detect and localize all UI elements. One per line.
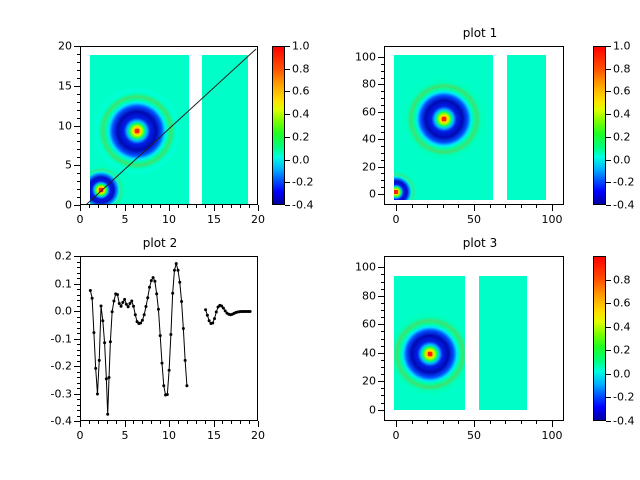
x-tick xyxy=(125,421,126,427)
x-tick-label: 20 xyxy=(251,429,265,442)
y-minor-tick xyxy=(381,339,384,340)
colorbar-tick xyxy=(606,303,611,304)
data-point xyxy=(132,305,135,308)
y-minor-tick xyxy=(381,78,384,79)
x-tick xyxy=(125,205,126,211)
y-tick xyxy=(74,366,80,367)
x-minor-tick xyxy=(458,421,459,424)
data-point xyxy=(116,293,119,296)
x-minor-tick xyxy=(133,205,134,208)
colorbar-tick xyxy=(606,205,611,206)
plot-area-plot2[interactable] xyxy=(80,256,258,421)
data-point xyxy=(146,296,149,299)
y-tick-label: 15 xyxy=(40,80,72,93)
x-minor-tick xyxy=(490,205,491,208)
y-minor-tick xyxy=(77,189,80,190)
data-point xyxy=(211,322,214,325)
x-minor-tick xyxy=(249,421,250,424)
colorbar-tick-label: 0.0 xyxy=(292,154,310,167)
colorbar-tick-label: 1.0 xyxy=(292,40,310,53)
y-minor-tick xyxy=(381,173,384,174)
x-minor-tick xyxy=(427,421,428,424)
line-segment-1 xyxy=(90,264,187,415)
data-point xyxy=(134,313,137,316)
y-minor-tick xyxy=(381,98,384,99)
y-minor-tick xyxy=(381,119,384,120)
colorbar-tick xyxy=(606,114,611,115)
x-tick-label: 20 xyxy=(251,213,265,226)
data-point xyxy=(92,331,95,334)
y-tick-label: 0 xyxy=(40,199,72,212)
x-minor-tick xyxy=(443,421,444,424)
y-minor-tick xyxy=(77,295,80,296)
data-point xyxy=(98,359,101,362)
data-point xyxy=(178,281,181,284)
colorbar-tick xyxy=(606,327,611,328)
y-minor-tick xyxy=(77,306,80,307)
heatmap-patch-right-p3 xyxy=(479,276,527,410)
data-point xyxy=(171,292,174,295)
x-minor-tick xyxy=(160,205,161,208)
y-minor-tick xyxy=(77,361,80,362)
data-point xyxy=(105,377,108,380)
colorbar-tick xyxy=(606,421,611,422)
colorbar-tick-label: 0.2 xyxy=(613,131,631,144)
y-minor-tick xyxy=(77,118,80,119)
x-tick-label: 10 xyxy=(162,429,176,442)
colorbar-tick-label: -0.2 xyxy=(292,176,313,189)
data-point xyxy=(157,308,160,311)
plot-area-plot1[interactable] xyxy=(384,46,564,205)
y-minor-tick xyxy=(77,388,80,389)
x-tick-label: 50 xyxy=(467,429,481,442)
colorbar-tick-label: 0.4 xyxy=(613,321,631,334)
data-point xyxy=(103,341,106,344)
data-point xyxy=(169,333,172,336)
plot-area-plot3[interactable] xyxy=(384,256,564,421)
image-layer-plot3 xyxy=(385,257,563,420)
data-point xyxy=(143,313,146,316)
y-tick xyxy=(378,267,384,268)
x-minor-tick xyxy=(205,205,206,208)
plot-area-top-left[interactable] xyxy=(80,46,258,205)
y-tick xyxy=(378,139,384,140)
y-tick xyxy=(378,84,384,85)
x-minor-tick xyxy=(521,421,522,424)
x-minor-tick xyxy=(116,205,117,208)
y-minor-tick xyxy=(381,71,384,72)
y-minor-tick xyxy=(381,289,384,290)
colorbar-tick-label: 0.6 xyxy=(292,85,310,98)
colorbar-tick xyxy=(285,46,290,47)
data-point xyxy=(121,301,124,304)
x-tick xyxy=(552,421,553,427)
data-point xyxy=(130,300,133,303)
x-tick xyxy=(214,205,215,211)
x-minor-tick xyxy=(160,421,161,424)
colorbar-tick-label: 0.8 xyxy=(613,63,631,76)
y-minor-tick xyxy=(77,377,80,378)
colorbar-tick xyxy=(285,137,290,138)
y-tick-label: 20 xyxy=(344,161,376,174)
y-tick-label: 60 xyxy=(344,106,376,119)
x-tick xyxy=(474,205,475,211)
colorbar-tick-label: -0.2 xyxy=(613,391,634,404)
y-minor-tick xyxy=(77,317,80,318)
y-minor-tick xyxy=(77,410,80,411)
data-point xyxy=(144,305,147,308)
y-tick xyxy=(378,194,384,195)
y-minor-tick xyxy=(77,372,80,373)
data-point xyxy=(208,319,211,322)
data-point xyxy=(125,303,128,306)
x-minor-tick xyxy=(178,205,179,208)
y-minor-tick xyxy=(381,160,384,161)
x-minor-tick xyxy=(142,421,143,424)
x-minor-tick xyxy=(458,205,459,208)
colorbar-tick-label: 1.0 xyxy=(613,40,631,53)
data-point xyxy=(123,298,126,301)
x-minor-tick xyxy=(443,205,444,208)
y-minor-tick xyxy=(381,146,384,147)
colorbar-tick xyxy=(285,205,290,206)
y-tick-label: 0.2 xyxy=(40,250,72,263)
x-minor-tick xyxy=(240,421,241,424)
data-point xyxy=(152,276,155,279)
x-minor-tick xyxy=(98,205,99,208)
x-tick-label: 50 xyxy=(467,213,481,226)
x-minor-tick xyxy=(231,205,232,208)
data-point xyxy=(106,413,109,416)
colorbar-tick xyxy=(606,46,611,47)
y-tick xyxy=(378,112,384,113)
y-tick-label: 0.0 xyxy=(40,305,72,318)
x-tick-label: 10 xyxy=(162,213,176,226)
x-tick xyxy=(552,205,553,211)
y-minor-tick xyxy=(77,181,80,182)
data-point xyxy=(127,305,130,308)
y-minor-tick xyxy=(77,110,80,111)
y-minor-tick xyxy=(381,395,384,396)
y-tick-label: 40 xyxy=(344,347,376,360)
x-minor-tick xyxy=(412,205,413,208)
data-point xyxy=(100,304,103,307)
figure-canvas: plot 1 xyxy=(0,0,640,480)
x-minor-tick xyxy=(536,421,537,424)
y-tick-label: 40 xyxy=(344,133,376,146)
y-tick xyxy=(74,284,80,285)
y-minor-tick xyxy=(77,273,80,274)
colorbar-tick-label: -0.4 xyxy=(292,199,313,212)
colorbar-tick-label: 0.4 xyxy=(613,108,631,121)
x-minor-tick xyxy=(505,421,506,424)
y-minor-tick xyxy=(381,346,384,347)
x-minor-tick xyxy=(412,421,413,424)
data-point xyxy=(139,322,142,325)
x-tick-label: 100 xyxy=(542,429,563,442)
colorbar-tick xyxy=(606,397,611,398)
y-minor-tick xyxy=(77,54,80,55)
y-tick-label: 0.1 xyxy=(40,278,72,291)
y-minor-tick xyxy=(77,278,80,279)
x-minor-tick xyxy=(249,205,250,208)
x-minor-tick xyxy=(490,421,491,424)
data-point xyxy=(111,310,114,313)
sinc-field-left-p1 xyxy=(394,55,493,200)
data-point xyxy=(206,314,209,317)
y-minor-tick xyxy=(77,94,80,95)
y-minor-tick xyxy=(77,383,80,384)
data-point xyxy=(112,300,115,303)
x-tick-label: 0 xyxy=(77,213,84,226)
y-minor-tick xyxy=(381,317,384,318)
y-minor-tick xyxy=(381,153,384,154)
colorbar-tick-label: 0.2 xyxy=(292,131,310,144)
x-minor-tick xyxy=(196,421,197,424)
y-minor-tick xyxy=(381,331,384,332)
y-tick-label: 100 xyxy=(344,51,376,64)
y-minor-tick xyxy=(77,289,80,290)
data-point xyxy=(91,297,94,300)
colorbar-tick xyxy=(285,69,290,70)
colorbar-tick xyxy=(606,137,611,138)
y-minor-tick xyxy=(77,62,80,63)
sinc-field-left-p3 xyxy=(394,276,465,410)
y-tick xyxy=(74,421,80,422)
heatmap-patch-left-p1 xyxy=(394,55,493,200)
y-minor-tick xyxy=(381,187,384,188)
y-minor-tick xyxy=(381,403,384,404)
colorbar-plot3 xyxy=(593,256,606,421)
y-minor-tick xyxy=(381,64,384,65)
colorbar-top-left xyxy=(272,46,285,205)
panel-bottom-left-title: plot 2 xyxy=(0,236,320,250)
panel-bottom-right: plot 3 xyxy=(320,240,640,480)
data-point xyxy=(215,311,218,314)
y-minor-tick xyxy=(381,274,384,275)
data-point xyxy=(213,317,216,320)
colorbar-tick xyxy=(606,160,611,161)
data-point xyxy=(94,367,97,370)
y-minor-tick xyxy=(77,149,80,150)
data-point xyxy=(148,286,151,289)
y-minor-tick xyxy=(77,70,80,71)
y-minor-tick xyxy=(381,360,384,361)
y-minor-tick xyxy=(381,303,384,304)
colorbar-tick-label: -0.2 xyxy=(613,176,634,189)
y-minor-tick xyxy=(77,355,80,356)
panel-top-right: plot 1 xyxy=(320,0,640,240)
y-minor-tick xyxy=(381,126,384,127)
x-minor-tick xyxy=(231,421,232,424)
colorbar-tick-label: -0.4 xyxy=(613,415,634,428)
x-tick-label: 0 xyxy=(77,429,84,442)
colorbar-tick xyxy=(606,374,611,375)
data-point xyxy=(182,327,185,330)
x-minor-tick xyxy=(505,205,506,208)
data-point xyxy=(89,289,92,292)
data-point xyxy=(120,305,123,308)
y-minor-tick xyxy=(77,333,80,334)
x-minor-tick xyxy=(89,421,90,424)
y-minor-tick xyxy=(77,102,80,103)
panel-bottom-right-title: plot 3 xyxy=(320,236,640,250)
data-point xyxy=(155,292,158,295)
y-tick xyxy=(74,46,80,47)
panel-top-right-title: plot 1 xyxy=(320,26,640,40)
y-tick xyxy=(74,394,80,395)
x-minor-tick xyxy=(98,421,99,424)
y-minor-tick xyxy=(77,416,80,417)
colorbar-tick xyxy=(606,280,611,281)
y-minor-tick xyxy=(381,310,384,311)
y-minor-tick xyxy=(381,132,384,133)
colorbar-tick-label: 0.0 xyxy=(613,368,631,381)
x-tick xyxy=(258,205,259,211)
data-point xyxy=(128,302,131,305)
x-tick-label: 5 xyxy=(122,213,129,226)
y-tick xyxy=(74,311,80,312)
y-tick xyxy=(378,324,384,325)
x-tick-label: 15 xyxy=(207,429,221,442)
colorbar-plot1 xyxy=(593,46,606,205)
y-tick-label: 20 xyxy=(344,375,376,388)
data-point xyxy=(160,362,163,365)
y-tick xyxy=(74,339,80,340)
y-minor-tick xyxy=(77,133,80,134)
y-minor-tick xyxy=(381,367,384,368)
y-minor-tick xyxy=(381,180,384,181)
y-tick xyxy=(74,165,80,166)
y-minor-tick xyxy=(77,141,80,142)
y-tick xyxy=(378,410,384,411)
y-minor-tick xyxy=(77,344,80,345)
y-tick-label: 0 xyxy=(344,404,376,417)
heatmap-patch-left-p3 xyxy=(394,276,465,410)
x-tick xyxy=(169,205,170,211)
data-point xyxy=(222,307,225,310)
data-point xyxy=(141,319,144,322)
x-minor-tick xyxy=(178,421,179,424)
y-tick-label: 100 xyxy=(344,261,376,274)
y-minor-tick xyxy=(381,282,384,283)
colorbar-tick-label: 0.8 xyxy=(292,63,310,76)
data-point xyxy=(159,334,162,337)
x-tick xyxy=(80,205,81,211)
x-tick-label: 0 xyxy=(393,213,400,226)
x-minor-tick xyxy=(205,421,206,424)
y-minor-tick xyxy=(77,399,80,400)
data-point xyxy=(249,310,252,313)
y-tick xyxy=(74,126,80,127)
y-tick xyxy=(378,57,384,58)
colorbar-tick-label: 0.2 xyxy=(613,344,631,357)
x-minor-tick xyxy=(151,205,152,208)
x-tick xyxy=(214,421,215,427)
x-minor-tick xyxy=(222,205,223,208)
data-point xyxy=(185,384,188,387)
colorbar-tick-label: 0.0 xyxy=(613,154,631,167)
sinc-field-left-tl xyxy=(90,55,189,204)
x-tick xyxy=(474,421,475,427)
y-minor-tick xyxy=(77,322,80,323)
data-point xyxy=(101,319,104,322)
heatmap-patch-right-p1 xyxy=(507,55,546,200)
x-minor-tick xyxy=(151,421,152,424)
data-point xyxy=(109,340,112,343)
data-point xyxy=(175,262,178,265)
y-minor-tick xyxy=(77,267,80,268)
image-layer-top-left xyxy=(81,47,257,204)
x-minor-tick xyxy=(116,421,117,424)
line-series-plot2 xyxy=(81,257,258,421)
y-minor-tick xyxy=(381,388,384,389)
x-minor-tick xyxy=(107,205,108,208)
data-point xyxy=(173,269,176,272)
data-point xyxy=(108,376,111,379)
x-tick xyxy=(169,421,170,427)
data-point xyxy=(168,369,171,372)
colorbar-tick xyxy=(606,182,611,183)
y-tick xyxy=(74,205,80,206)
y-minor-tick xyxy=(381,91,384,92)
colorbar-tick xyxy=(606,91,611,92)
y-tick-label: 5 xyxy=(40,159,72,172)
y-tick xyxy=(378,296,384,297)
y-tick-label: 60 xyxy=(344,318,376,331)
data-point xyxy=(162,384,165,387)
y-minor-tick xyxy=(77,197,80,198)
x-tick xyxy=(258,421,259,427)
x-minor-tick xyxy=(240,205,241,208)
x-tick xyxy=(396,421,397,427)
x-minor-tick xyxy=(133,421,134,424)
x-minor-tick xyxy=(536,205,537,208)
data-point xyxy=(180,300,183,303)
y-minor-tick xyxy=(77,78,80,79)
y-minor-tick xyxy=(77,350,80,351)
x-minor-tick xyxy=(196,205,197,208)
data-point xyxy=(177,269,180,272)
colorbar-tick-label: 0.6 xyxy=(613,85,631,98)
x-minor-tick xyxy=(521,205,522,208)
x-tick-label: 0 xyxy=(393,429,400,442)
colorbar-tick xyxy=(285,91,290,92)
colorbar-tick xyxy=(606,69,611,70)
y-tick xyxy=(74,256,80,257)
colorbar-tick-label: 0.8 xyxy=(613,274,631,287)
y-tick-label: 80 xyxy=(344,78,376,91)
x-minor-tick xyxy=(187,421,188,424)
colorbar-tick-label: 0.4 xyxy=(292,108,310,121)
y-tick-label: 80 xyxy=(344,290,376,303)
y-tick-label: 20 xyxy=(40,40,72,53)
y-tick-label: -0.3 xyxy=(40,388,72,401)
y-tick-label: 0 xyxy=(344,188,376,201)
x-minor-tick xyxy=(427,205,428,208)
y-tick-label: -0.4 xyxy=(40,415,72,428)
data-point xyxy=(184,359,187,362)
y-tick xyxy=(378,381,384,382)
data-point xyxy=(118,302,121,305)
y-minor-tick xyxy=(77,157,80,158)
colorbar-tick-label: -0.4 xyxy=(613,199,634,212)
x-minor-tick xyxy=(107,421,108,424)
x-tick xyxy=(396,205,397,211)
colorbar-tick-label: 0.6 xyxy=(613,297,631,310)
x-tick-label: 100 xyxy=(542,213,563,226)
data-point xyxy=(153,280,156,283)
